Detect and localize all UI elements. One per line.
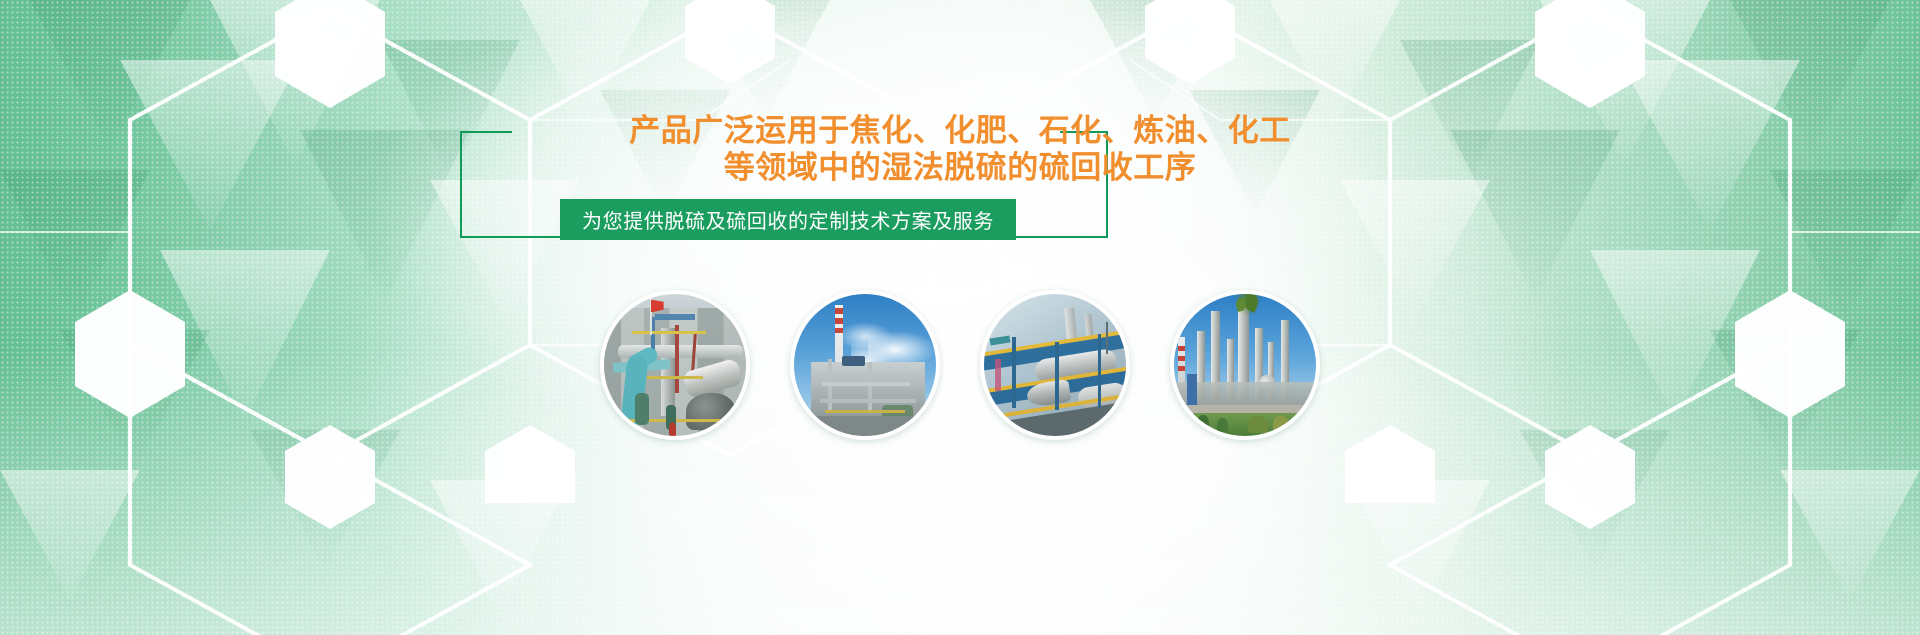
headline: 产品广泛运用于焦化、化肥、石化、炼油、化工 等领域中的湿法脱硫的硫回收工序 bbox=[0, 112, 1920, 186]
photo-refinery-columns[interactable] bbox=[1170, 290, 1320, 440]
subtitle-text: 为您提供脱硫及硫回收的定制技术方案及服务 bbox=[582, 205, 994, 234]
photo-row bbox=[0, 290, 1920, 440]
subtitle-banner: 为您提供脱硫及硫回收的定制技术方案及服务 bbox=[560, 199, 1016, 240]
photo-desulfurization-unit[interactable] bbox=[600, 290, 750, 440]
bracket-bottom-right-segment bbox=[1012, 236, 1108, 238]
headline-line-2: 等领域中的湿法脱硫的硫回收工序 bbox=[0, 149, 1920, 186]
bracket-bottom-left-segment bbox=[460, 236, 568, 238]
banner-stage: 产品广泛运用于焦化、化肥、石化、炼油、化工 等领域中的湿法脱硫的硫回收工序 为您… bbox=[0, 0, 1920, 635]
headline-line-1: 产品广泛运用于焦化、化肥、石化、炼油、化工 bbox=[0, 112, 1920, 149]
photo-tank-platform[interactable] bbox=[980, 290, 1130, 440]
photo-chimney-plant[interactable] bbox=[790, 290, 940, 440]
